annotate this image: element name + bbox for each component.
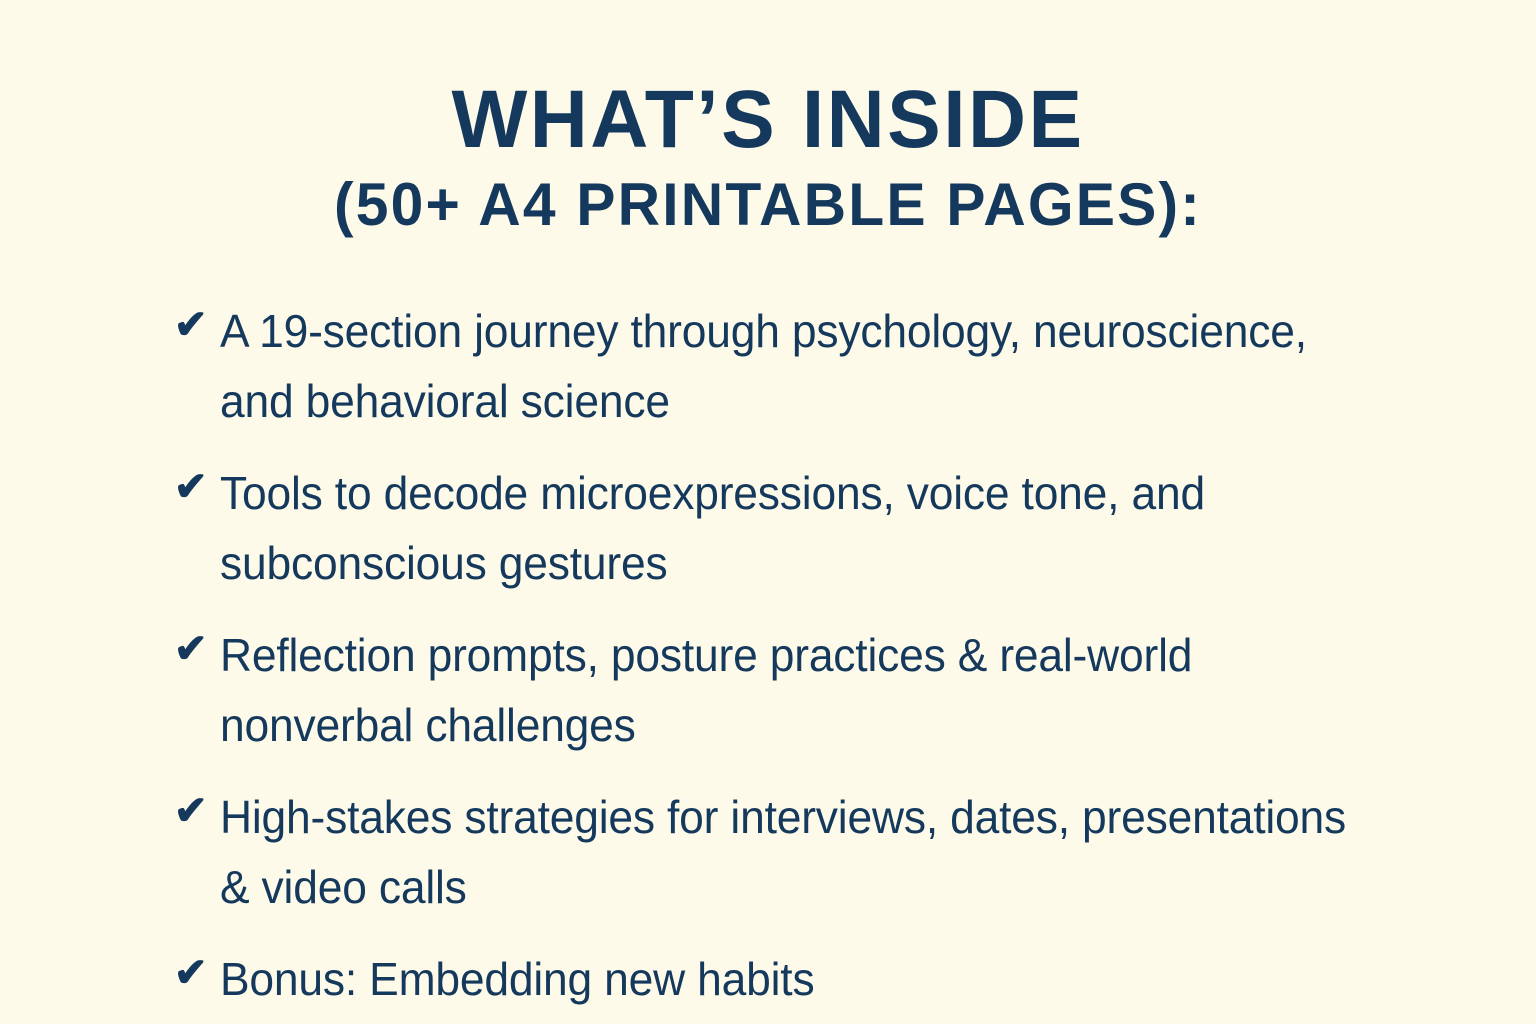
list-item-label: Reflection prompts, posture practices & … — [220, 620, 1359, 760]
page-title-line-2: (50+ A4 PRINTABLE PAGES): — [15, 168, 1520, 242]
list-item: ✔ Bonus: Embedding new habits — [168, 944, 1458, 1014]
list-item: ✔ Tools to decode microexpressions, voic… — [168, 458, 1458, 598]
check-icon: ✔ — [168, 620, 220, 678]
list-item-label: Bonus: Embedding new habits — [220, 944, 1359, 1014]
poster-canvas: WHAT’S INSIDE (50+ A4 PRINTABLE PAGES): … — [0, 0, 1536, 1024]
list-item-label: A 19-section journey through psychology,… — [220, 296, 1359, 436]
list-item-label: High-stakes strategies for interviews, d… — [220, 782, 1359, 922]
check-icon: ✔ — [168, 296, 220, 354]
list-item-label: Tools to decode microexpressions, voice … — [220, 458, 1359, 598]
list-item: ✔ High-stakes strategies for interviews,… — [168, 782, 1458, 922]
check-icon: ✔ — [168, 458, 220, 516]
list-item: ✔ Reflection prompts, posture practices … — [168, 620, 1458, 760]
feature-bullet-list: ✔ A 19-section journey through psycholog… — [168, 296, 1458, 1014]
check-icon: ✔ — [168, 944, 220, 1002]
check-icon: ✔ — [168, 782, 220, 840]
heading-block: WHAT’S INSIDE (50+ A4 PRINTABLE PAGES): — [0, 0, 1536, 242]
page-title-line-1: WHAT’S INSIDE — [15, 74, 1520, 166]
list-item: ✔ A 19-section journey through psycholog… — [168, 296, 1458, 436]
